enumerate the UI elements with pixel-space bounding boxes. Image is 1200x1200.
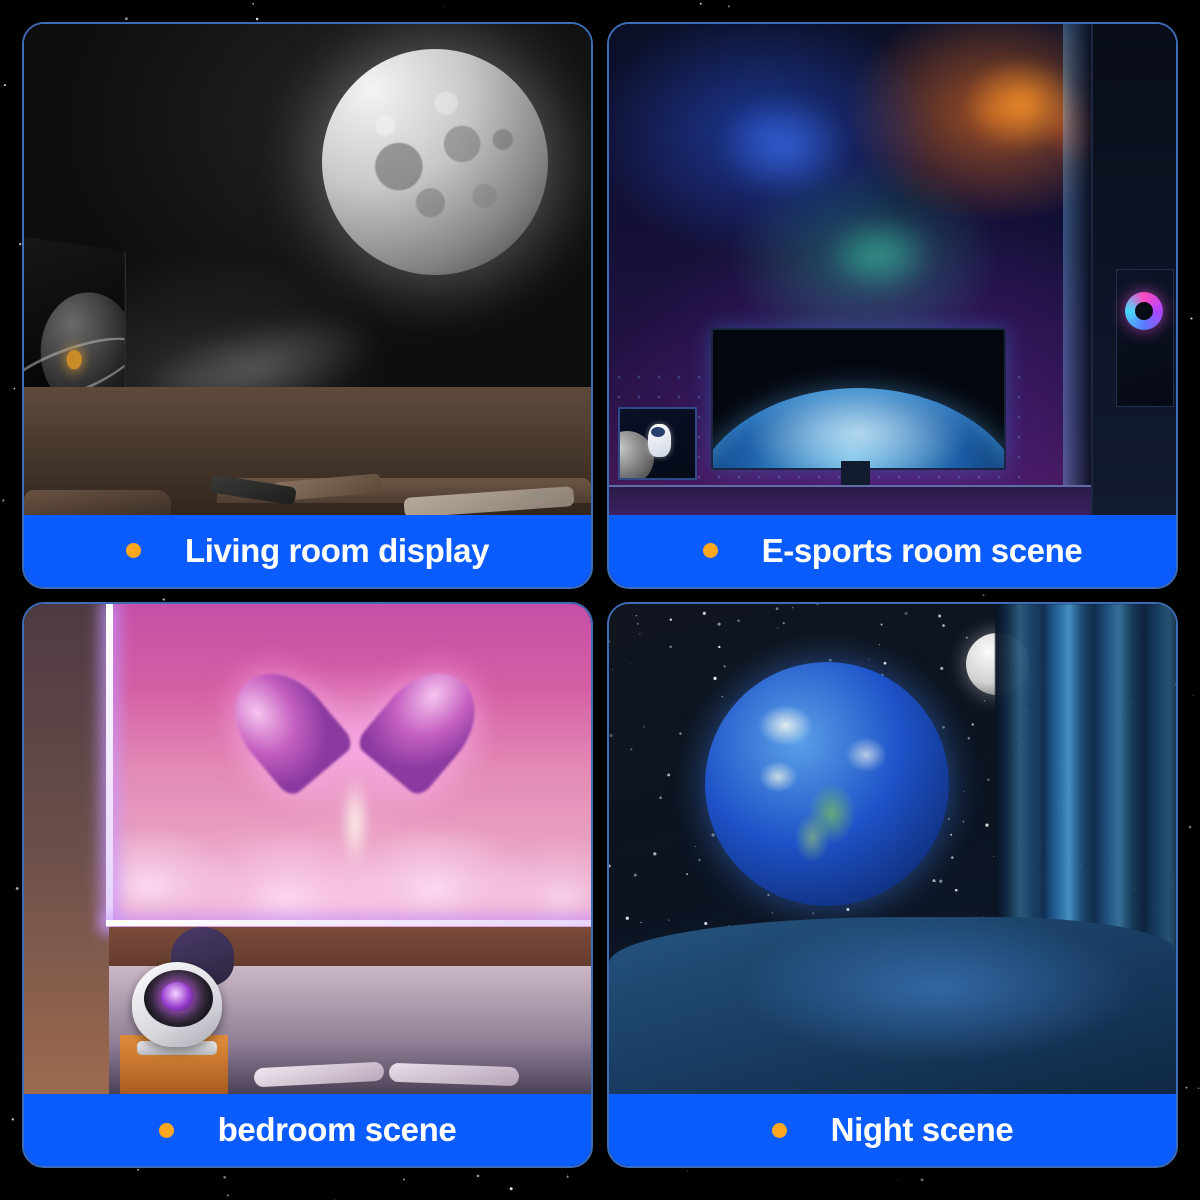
bullet-dot-icon	[126, 543, 141, 558]
label-bar-bedroom-scene[interactable]: bedroom scene	[24, 1094, 591, 1166]
earth-projection	[705, 662, 949, 906]
scene-card-esports-room-scene[interactable]: E-sports room scene	[607, 22, 1178, 589]
scene-card-grid: Living room display	[22, 22, 1178, 1168]
green-nebula-cloud	[790, 191, 971, 319]
planet-highlight	[66, 350, 82, 369]
bullet-dot-icon	[159, 1123, 174, 1138]
scene-image-living-room	[24, 24, 591, 515]
astronaut-picture-frame	[618, 407, 697, 481]
astronaut-icon	[648, 424, 671, 457]
label-text-esports-room-scene: E-sports room scene	[762, 532, 1083, 570]
label-text-living-room-display: Living room display	[185, 532, 489, 570]
armchair	[24, 490, 171, 514]
label-bar-esports-room-scene[interactable]: E-sports room scene	[609, 515, 1176, 587]
ultrawide-monitor	[711, 328, 1006, 470]
heart-cloud-projection	[109, 604, 591, 928]
blue-blanket	[609, 917, 1176, 1094]
wall-light-panel	[1063, 24, 1091, 515]
label-text-bedroom-scene: bedroom scene	[218, 1111, 457, 1149]
potted-plant	[512, 489, 563, 507]
scene-card-living-room-display[interactable]: Living room display	[22, 22, 593, 589]
neon-light-strip-horizontal	[106, 920, 591, 926]
scene-image-night	[609, 604, 1176, 1095]
pillow-right	[388, 1062, 519, 1086]
label-bar-night-scene[interactable]: Night scene	[609, 1094, 1176, 1166]
bullet-dot-icon	[703, 543, 718, 558]
scene-card-bedroom-scene[interactable]: bedroom scene	[22, 602, 593, 1169]
bullet-dot-icon	[772, 1123, 787, 1138]
neon-light-strip-vertical	[106, 604, 113, 928]
left-wall	[24, 604, 109, 1095]
scene-card-night-scene[interactable]: Night scene	[607, 602, 1178, 1169]
heart-cloud-icon	[278, 649, 432, 791]
label-text-night-scene: Night scene	[831, 1111, 1014, 1149]
pc-tower	[1091, 24, 1176, 515]
sunbeam-glow	[331, 778, 379, 888]
earth-on-monitor	[711, 388, 1006, 470]
pc-tower-side-panel	[1116, 269, 1174, 406]
moon-projection	[322, 49, 549, 276]
scene-image-esports-room	[609, 24, 1176, 515]
pillow-left	[253, 1061, 384, 1087]
label-bar-living-room-display[interactable]: Living room display	[24, 515, 591, 587]
projector-device	[132, 962, 223, 1048]
rgb-fan-icon	[1125, 292, 1163, 330]
scene-image-bedroom	[24, 604, 591, 1095]
sofa	[24, 387, 591, 515]
